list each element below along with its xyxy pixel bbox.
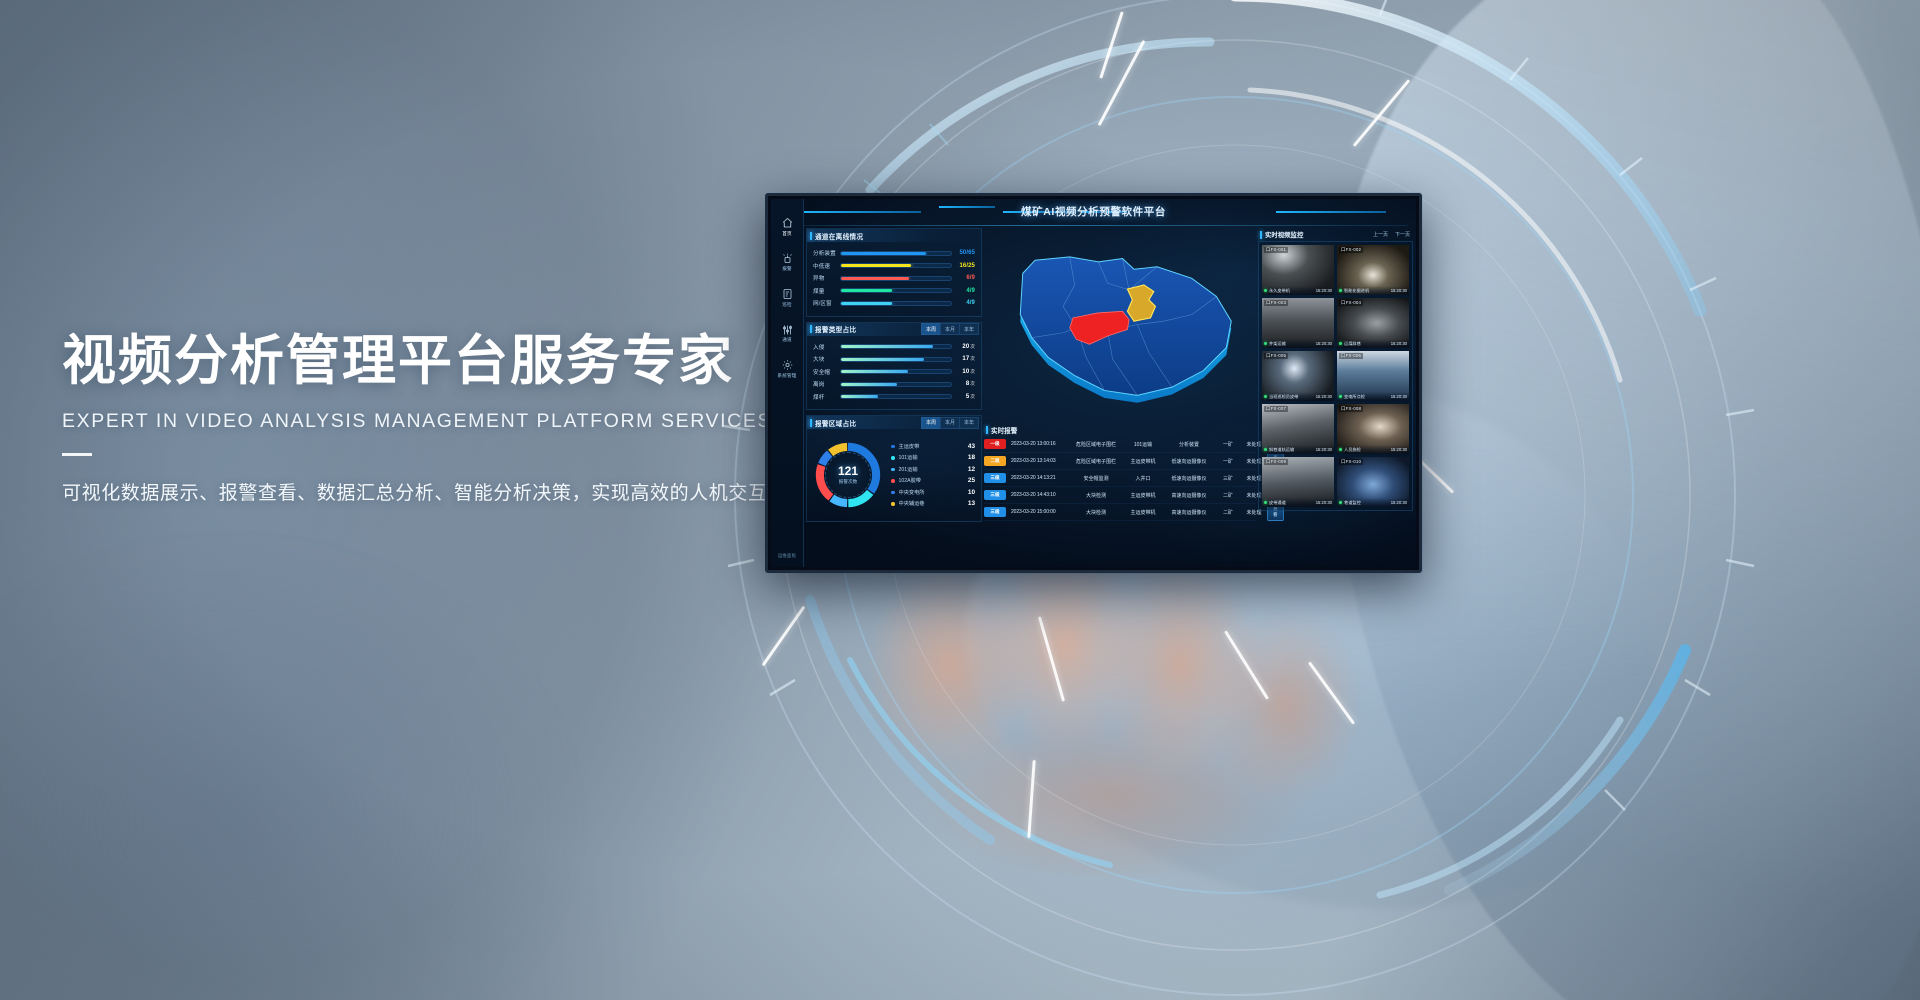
sidebar-item-home[interactable]: 首页 <box>772 217 802 237</box>
panel-title: 报警类型占比 <box>815 324 856 334</box>
channel-label: 异物 <box>813 274 840 282</box>
online-status-dot <box>1264 501 1267 504</box>
online-status-dot <box>1264 289 1267 292</box>
legend-item: 101运输 18 <box>891 452 975 464</box>
video-code: 口FX-003 <box>1264 300 1288 306</box>
channel-value: 4/9 <box>952 300 975 306</box>
video-footer: 人员施检 15:20:30 <box>1337 445 1409 454</box>
video-cell[interactable]: 口FX-001 永久皮带机 15:20:30 <box>1262 245 1334 295</box>
channel-progress-track <box>840 263 952 268</box>
channel-progress-fill <box>841 302 892 305</box>
panel-title: 报警区域占比 <box>815 418 856 428</box>
alarm-type-progress-track <box>840 344 952 349</box>
alarm-type-value: 17次 <box>952 356 975 362</box>
channel-label: 中低速 <box>813 262 840 270</box>
sidebar-item-alarm[interactable]: 报警 <box>772 253 802 273</box>
video-cell[interactable]: 口FX-008 人员施检 15:20:30 <box>1337 404 1409 454</box>
status-badge: 二级 <box>984 456 1006 465</box>
alarm-type: 危险区域电子围栏 <box>1069 458 1123 465</box>
video-timestamp: 15:20:30 <box>1316 288 1332 293</box>
accent-bar <box>986 426 988 434</box>
video-cell[interactable]: 口FX-005 当班巡检员皮带 15:20:30 <box>1262 351 1334 401</box>
online-status-dot <box>1339 342 1342 345</box>
online-status-dot <box>1264 395 1267 398</box>
sidebar-item-channel[interactable]: 通道 <box>772 324 802 344</box>
alarm-time: 2023-03-20 13:00:16 <box>1011 441 1069 447</box>
prev-page-button[interactable]: 上一页 <box>1373 231 1388 238</box>
video-grid: 口FX-001 永久皮带机 15:20:30 口FX-002 智能化掘进机 15… <box>1258 241 1413 511</box>
panel-header: 报警类型占比 本周本月本年 <box>807 323 981 336</box>
table-row: 一级 2023-03-20 13:00:16 危险区域电子围栏 101运输 分析… <box>984 436 1256 453</box>
alarm-device: 分析装置 <box>1163 441 1215 448</box>
video-name: 井架运输 <box>1269 341 1286 347</box>
video-footer: 永久皮带机 15:20:30 <box>1262 286 1334 295</box>
alarm-type-label: 离岗 <box>813 380 840 388</box>
donut-center: 121 报警次数 <box>825 452 871 498</box>
channel-progress-track <box>840 276 952 281</box>
alarm-type: 大块检测 <box>1069 492 1123 499</box>
page-title: 视频分析管理平台服务专家 <box>62 330 822 394</box>
channel-value: 6/9 <box>952 275 975 281</box>
left-panel-column: 通道在离线情况 分析装置 50/65 中低速 16/25 异物 6/9 煤量 4… <box>806 228 982 564</box>
panel-header: 报警区域占比 本周本月本年 <box>807 416 981 429</box>
clipboard-icon <box>781 288 794 300</box>
table-row: 二级 2023-03-20 13:14:03 危险区域电子围栏 主运皮带机 低速… <box>984 453 1256 470</box>
alarm-location: 主运皮带机 <box>1123 458 1163 465</box>
alarm-time: 2023-03-20 13:14:03 <box>1011 458 1069 464</box>
dashboard-sidebar: 首页 报警 巡检 <box>771 199 804 567</box>
panel-header: 实时报警 <box>984 423 1256 436</box>
accent-bar <box>810 419 812 427</box>
sidebar-footer: 运维面板 <box>771 552 803 560</box>
gear-icon <box>781 359 794 371</box>
video-name: 变电所点检 <box>1344 394 1365 400</box>
alarm-mine: 二矿 <box>1215 509 1241 516</box>
legend-item: 中央变电所 10 <box>891 487 975 499</box>
legend-value: 43 <box>959 443 975 450</box>
video-code: 口FX-005 <box>1264 353 1288 359</box>
video-name: 斜巷道轨运输 <box>1269 447 1294 453</box>
video-footer: 运煤斜巷 15:20:30 <box>1337 339 1409 348</box>
panel-header: 实时视频监控 上一页 下一页 <box>1258 228 1413 241</box>
video-footer: 智能化掘进机 15:20:30 <box>1337 286 1409 295</box>
legend-color-dot <box>891 468 895 472</box>
page-subtitle: EXPERT IN VIDEO ANALYSIS MANAGEMENT PLAT… <box>62 410 822 433</box>
video-footer: 皮带通道 15:20:30 <box>1262 498 1334 507</box>
panel-header: 通道在离线情况 <box>807 229 981 242</box>
accent-bar <box>810 325 812 333</box>
alarm-type: 危险区域电子围栏 <box>1069 441 1123 448</box>
sidebar-item-system-settings[interactable]: 系统管理 <box>772 359 802 379</box>
alarm-type-label: 大块 <box>813 355 840 363</box>
legend-item: 102A胶带 25 <box>891 475 975 487</box>
alarm-type-progress-fill <box>841 358 924 361</box>
alarm-type-row: 煤杆 5次 <box>813 391 975 404</box>
alarm-table: 一级 2023-03-20 13:00:16 危险区域电子围栏 101运输 分析… <box>984 436 1256 521</box>
video-timestamp: 15:20:30 <box>1391 447 1407 452</box>
page-description: 可视化数据展示、报警查看、数据汇总分析、智能分析决策，实现高效的人机交互 <box>62 478 822 505</box>
video-timestamp: 15:20:30 <box>1391 288 1407 293</box>
video-footer: 井架运输 15:20:30 <box>1262 339 1334 348</box>
legend-color-dot <box>891 502 895 506</box>
status-badge: 三级 <box>984 490 1006 499</box>
video-footer: 斜巷道轨运输 15:20:30 <box>1262 445 1334 454</box>
legend-label: 中央辅运巷 <box>899 500 960 507</box>
legend-item: 主运皮带 43 <box>891 441 975 453</box>
legend-color-dot <box>891 491 895 495</box>
alarm-type-progress-track <box>840 394 952 399</box>
video-timestamp: 15:20:30 <box>1391 341 1407 346</box>
period-tabs[interactable]: 本周本月本年 <box>921 323 981 335</box>
channel-progress-track <box>840 251 952 256</box>
sidebar-item-label: 报警 <box>772 266 802 272</box>
period-tab[interactable]: 本年 <box>959 323 979 335</box>
sidebar-item-label: 首页 <box>772 231 802 237</box>
donut-chart-area: 121 报警次数 主运皮带 43 101运输 18 201运输 12 102 <box>807 429 981 521</box>
period-tab[interactable]: 本周 <box>921 323 940 335</box>
channel-row: 异物 6/9 <box>813 272 975 285</box>
alarm-type-progress-fill <box>841 395 878 398</box>
legend-color-dot <box>891 445 895 449</box>
alarm-device: 高速向运摄像仪 <box>1163 509 1215 516</box>
alarm-device: 低速向运摄像仪 <box>1163 475 1215 482</box>
alarm-type-label: 入侵 <box>813 343 840 351</box>
home-icon <box>781 217 794 229</box>
alarm-mine: 二矿 <box>1215 492 1241 499</box>
channel-progress-fill <box>841 277 909 280</box>
accent-bar <box>810 232 812 240</box>
dashboard-header: 煤矿AI视频分析预警软件平台 <box>771 199 1416 226</box>
legend-label: 101运输 <box>899 454 960 461</box>
video-code: 口FX-009 <box>1264 459 1288 465</box>
video-cell[interactable]: 口FX-006 变电所点检 15:20:30 <box>1337 351 1409 401</box>
panel-title: 实时报警 <box>991 425 1017 435</box>
alarm-location: 101运输 <box>1123 441 1163 448</box>
legend-label: 主运皮带 <box>899 443 960 450</box>
video-timestamp: 15:20:30 <box>1316 394 1332 399</box>
alarm-type-row-list: 入侵 20次 大块 17次 安全帽 10次 离岗 8次 煤杆 5次 <box>807 336 981 410</box>
donut-total-value: 121 <box>838 465 858 477</box>
video-footer: 巷道监控 15:20:30 <box>1337 498 1409 507</box>
alarm-area-donut-chart: 121 报警次数 <box>811 438 885 512</box>
video-cell[interactable]: 口FX-003 井架运输 15:20:30 <box>1262 298 1334 348</box>
alarm-type-progress-fill <box>841 345 933 348</box>
channel-progress-track <box>840 288 952 293</box>
alarm-device: 高速向运摄像仪 <box>1163 492 1215 499</box>
channel-label: 网/区窗 <box>813 299 840 307</box>
legend-color-dot <box>891 456 895 460</box>
legend-value: 13 <box>959 500 975 507</box>
video-cell[interactable]: 口FX-010 巷道监控 15:20:30 <box>1337 457 1409 507</box>
alarm-time: 2023-03-20 15:00:00 <box>1011 509 1069 515</box>
alarm-type-row: 安全帽 10次 <box>813 366 975 379</box>
video-cell[interactable]: 口FX-009 皮带通道 15:20:30 <box>1262 457 1334 507</box>
channel-progress-fill <box>841 252 926 255</box>
channel-status-panel: 通道在离线情况 分析装置 50/65 中低速 16/25 异物 6/9 煤量 4… <box>806 228 982 317</box>
sidebar-item-label: 系统管理 <box>772 373 802 379</box>
alarm-time: 2023-03-20 14:13:21 <box>1011 475 1069 481</box>
period-tabs[interactable]: 本周本月本年 <box>921 417 981 429</box>
video-timestamp: 15:20:30 <box>1316 341 1332 346</box>
online-status-dot <box>1264 448 1267 451</box>
sidebar-item-label: 通道 <box>772 337 802 343</box>
video-cell[interactable]: 口FX-004 运煤斜巷 15:20:30 <box>1337 298 1409 348</box>
video-name: 巷道监控 <box>1344 500 1361 506</box>
table-row: 三级 2023-03-20 14:13:21 安全帽监测 入井口 低速向运摄像仪… <box>984 470 1256 487</box>
sidebar-footer-label: 运维面板 <box>771 553 803 559</box>
alarm-type-row: 大块 17次 <box>813 353 975 366</box>
alarm-icon <box>781 253 794 265</box>
alarm-mine: 三矿 <box>1215 475 1241 482</box>
hero-text-block: 视频分析管理平台服务专家 EXPERT IN VIDEO ANALYSIS MA… <box>62 330 822 505</box>
channel-value: 4/9 <box>952 288 975 294</box>
channel-progress-fill <box>841 264 911 267</box>
video-monitor-panel: 实时视频监控 上一页 下一页 口FX-001 永久皮带机 15:20:30 口F… <box>1258 228 1413 564</box>
alarm-location: 主运皮带机 <box>1123 492 1163 499</box>
video-code: 口FX-001 <box>1264 247 1288 253</box>
legend-value: 18 <box>959 454 975 461</box>
channel-row: 中低速 16/25 <box>813 260 975 273</box>
channel-row: 煤量 4/9 <box>813 285 975 298</box>
status-badge: 三级 <box>984 473 1006 482</box>
alarm-time: 2023-03-20 14:43:10 <box>1011 492 1069 498</box>
alarm-type-label: 煤杆 <box>813 393 840 401</box>
alarm-type-progress-track <box>840 382 952 387</box>
alarm-type: 安全帽监测 <box>1069 475 1123 482</box>
online-status-dot <box>1339 448 1342 451</box>
alarm-type-value: 10次 <box>952 369 975 375</box>
alarm-area-panel: 报警区域占比 本周本月本年 121 报警次数 主运皮带 <box>806 415 982 522</box>
video-code: 口FX-008 <box>1339 406 1363 412</box>
video-timestamp: 15:20:30 <box>1391 394 1407 399</box>
alarm-location: 主运皮带机 <box>1123 509 1163 516</box>
period-tab[interactable]: 本月 <box>940 417 959 429</box>
table-row: 三级 2023-03-20 15:00:00 大块检测 主运皮带机 高速向运摄像… <box>984 504 1256 521</box>
channel-progress-track <box>840 301 952 306</box>
video-name: 当班巡检员皮带 <box>1269 394 1298 400</box>
legend-value: 25 <box>959 477 975 484</box>
channel-value: 16/25 <box>952 263 975 269</box>
online-status-dot <box>1339 395 1342 398</box>
map-highlight-yellow <box>1127 285 1155 321</box>
channel-label: 分析装置 <box>813 249 840 257</box>
video-footer: 变电所点检 15:20:30 <box>1337 392 1409 401</box>
video-footer: 当班巡检员皮带 15:20:30 <box>1262 392 1334 401</box>
alarm-type-progress-fill <box>841 383 897 386</box>
divider <box>62 453 92 456</box>
online-status-dot <box>1264 342 1267 345</box>
alarm-type-value: 8次 <box>952 381 975 387</box>
header-underline <box>795 225 1408 226</box>
video-code: 口FX-010 <box>1339 459 1363 465</box>
video-code: 口FX-002 <box>1339 247 1363 253</box>
video-name: 人员施检 <box>1344 447 1361 453</box>
video-code: 口FX-004 <box>1339 300 1363 306</box>
legend-label: 102A胶带 <box>899 477 960 484</box>
legend-item: 中央辅运巷 13 <box>891 498 975 510</box>
alarm-type-label: 安全帽 <box>813 368 840 376</box>
alarm-type-progress-fill <box>841 370 908 373</box>
sliders-icon <box>781 324 794 336</box>
channel-progress-fill <box>841 289 892 292</box>
sidebar-item-label: 巡检 <box>772 302 802 308</box>
period-tab[interactable]: 本月 <box>940 323 959 335</box>
panel-title: 通道在离线情况 <box>815 231 863 241</box>
video-cell[interactable]: 口FX-002 智能化掘进机 15:20:30 <box>1337 245 1409 295</box>
video-timestamp: 15:20:30 <box>1391 500 1407 505</box>
video-code: 口FX-006 <box>1339 353 1363 359</box>
status-badge: 三级 <box>984 507 1006 516</box>
online-status-dot <box>1339 501 1342 504</box>
sidebar-item-inspection[interactable]: 巡检 <box>772 288 802 308</box>
panel-title: 实时视频监控 <box>1265 230 1303 239</box>
alarm-location: 入井口 <box>1123 475 1163 482</box>
alarm-mine: 一矿 <box>1215 458 1241 465</box>
hero-banner: 视频分析管理平台服务专家 EXPERT IN VIDEO ANALYSIS MA… <box>0 0 1920 1000</box>
video-name: 皮带通道 <box>1269 500 1286 506</box>
legend-value: 10 <box>959 489 975 496</box>
video-timestamp: 15:20:30 <box>1316 447 1332 452</box>
period-tab[interactable]: 本年 <box>959 417 979 429</box>
channel-row: 分析装置 50/65 <box>813 247 975 260</box>
accent-bar <box>1260 231 1262 239</box>
table-row: 三级 2023-03-20 14:43:10 大块检测 主运皮带机 高速向运摄像… <box>984 487 1256 504</box>
video-name: 智能化掘进机 <box>1344 288 1369 294</box>
alarm-type-value: 5次 <box>952 394 975 400</box>
video-name: 永久皮带机 <box>1269 288 1290 294</box>
alarm-type-progress-track <box>840 369 952 374</box>
legend-label: 中央变电所 <box>899 489 960 496</box>
legend-color-dot <box>891 479 895 483</box>
video-name: 运煤斜巷 <box>1344 341 1361 347</box>
dashboard-screen: 煤矿AI视频分析预警软件平台 首页 报警 <box>765 193 1422 573</box>
alarm-type-panel: 报警类型占比 本周本月本年 入侵 20次 大块 17次 安全帽 10次 离岗 8… <box>806 322 982 411</box>
alarm-type: 大块检测 <box>1069 509 1123 516</box>
alarm-type-value: 20次 <box>952 344 975 350</box>
legend-label: 201运输 <box>899 466 960 473</box>
channel-value: 50/65 <box>952 250 975 256</box>
donut-legend: 主运皮带 43 101运输 18 201运输 12 102A胶带 25 中央变电… <box>885 441 975 510</box>
channel-row: 网/区窗 4/9 <box>813 297 975 310</box>
province-map[interactable] <box>984 228 1256 421</box>
donut-total-caption: 报警次数 <box>839 479 857 485</box>
online-status-dot <box>1339 289 1342 292</box>
next-page-button[interactable]: 下一页 <box>1395 231 1410 238</box>
legend-item: 201运输 12 <box>891 464 975 476</box>
video-pagination: 上一页 下一页 <box>1373 231 1413 238</box>
alarm-type-row: 离岗 8次 <box>813 378 975 391</box>
video-timestamp: 15:20:30 <box>1316 500 1332 505</box>
realtime-alarm-panel: 实时报警 一级 2023-03-20 13:00:16 危险区域电子围栏 101… <box>984 423 1256 564</box>
alarm-mine: 一矿 <box>1215 441 1241 448</box>
status-badge: 一级 <box>984 439 1006 448</box>
alarm-device: 低速向运摄像仪 <box>1163 458 1215 465</box>
channel-label: 煤量 <box>813 287 840 295</box>
video-code: 口FX-007 <box>1264 406 1288 412</box>
video-cell[interactable]: 口FX-007 斜巷道轨运输 15:20:30 <box>1262 404 1334 454</box>
period-tab[interactable]: 本周 <box>921 417 940 429</box>
dashboard-title: 煤矿AI视频分析预警软件平台 <box>771 204 1416 219</box>
channel-row-list: 分析装置 50/65 中低速 16/25 异物 6/9 煤量 4/9 网/区窗 … <box>807 242 981 316</box>
legend-value: 12 <box>959 466 975 473</box>
alarm-type-row: 入侵 20次 <box>813 341 975 354</box>
alarm-type-progress-track <box>840 357 952 362</box>
